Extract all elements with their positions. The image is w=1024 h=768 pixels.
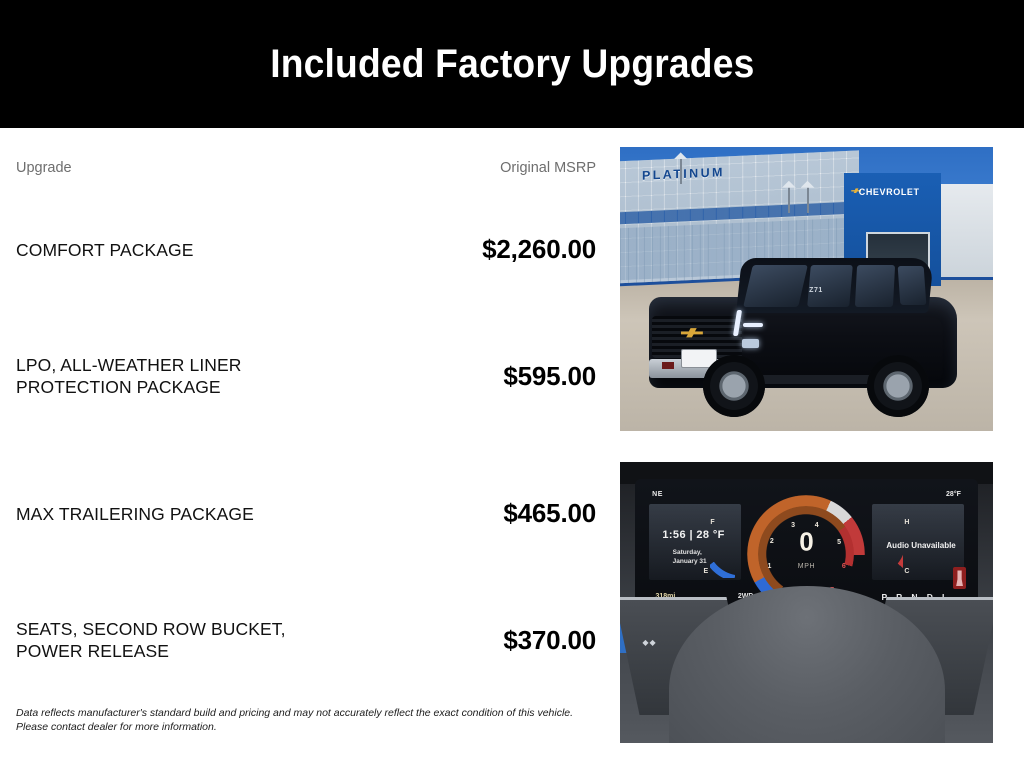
upgrades-table: Upgrade Original MSRP COMFORT PACKAGE $2… [0, 128, 612, 768]
headlight-upper [743, 323, 763, 327]
window-windshield [743, 265, 807, 307]
outside-temp-readout: 28°F [946, 491, 961, 498]
column-header-msrp: Original MSRP [500, 160, 596, 176]
tach-tick: 4 [815, 522, 819, 529]
brand-sign-text: CHEVROLET [859, 187, 920, 197]
upgrade-label: LPO, ALL-WEATHER LINER PROTECTION PACKAG… [16, 354, 242, 398]
front-wheel [703, 355, 765, 417]
upgrade-price: $595.00 [503, 361, 596, 392]
exterior-scene: PLATINUM CHEVROLET [620, 147, 993, 431]
window-quarter [898, 266, 926, 305]
table-row: SEATS, SECOND ROW BUCKET, POWER RELEASE … [16, 618, 596, 662]
clock-value: 1:56 [662, 529, 686, 541]
upgrade-label: MAX TRAILERING PACKAGE [16, 503, 254, 525]
window-rear-door [855, 265, 896, 307]
page-header: Included Factory Upgrades [0, 0, 1024, 128]
fuel-full-label: F [710, 519, 714, 526]
trim-badge: Z71 [809, 287, 823, 294]
date-readout: Saturday, January 31 [673, 548, 707, 566]
vehicle-interior-photo[interactable]: NE 28°F 1:56 | 28 °F Saturday, January 3… [620, 462, 993, 743]
upgrade-price: $2,260.00 [482, 234, 596, 265]
vehicle-exterior-photo[interactable]: PLATINUM CHEVROLET [620, 147, 993, 431]
lot-lamp-icon [788, 187, 790, 213]
speed-value: 0 [799, 527, 813, 558]
table-row: MAX TRAILERING PACKAGE $465.00 [16, 498, 596, 529]
speed-unit: MPH [798, 563, 815, 570]
disclaimer-text: Data reflects manufacturer's standard bu… [16, 706, 596, 734]
column-header-upgrade: Upgrade [16, 160, 72, 176]
page-title: Included Factory Upgrades [270, 42, 754, 87]
lot-lamp-icon [680, 158, 682, 184]
suv-vehicle: Z71 [642, 255, 963, 417]
table-header-row: Upgrade Original MSRP [16, 160, 596, 176]
window-front-door [807, 265, 852, 307]
seatbelt-warning-icon [953, 567, 966, 589]
upgrade-label: SEATS, SECOND ROW BUCKET, POWER RELEASE [16, 618, 286, 662]
upgrade-label: COMFORT PACKAGE [16, 239, 194, 261]
table-row: COMFORT PACKAGE $2,260.00 [16, 234, 596, 265]
fuel-gauge-arc [710, 506, 772, 578]
upgrade-price: $465.00 [503, 498, 596, 529]
rear-wheel [867, 355, 929, 417]
upgrade-price: $370.00 [503, 625, 596, 656]
tow-hook-icon [662, 362, 674, 369]
steering-wheel-control-icon: ◆◆ [642, 638, 656, 647]
compass-heading: NE [652, 491, 663, 498]
temp-cold-label: C [904, 568, 909, 575]
table-row: LPO, ALL-WEATHER LINER PROTECTION PACKAG… [16, 354, 596, 398]
temp-hot-label: H [904, 519, 909, 526]
fuel-empty-label: E [704, 568, 709, 575]
headlight-lower [742, 339, 759, 348]
interior-scene: NE 28°F 1:56 | 28 °F Saturday, January 3… [620, 462, 993, 743]
vehicle-upgrades-page: Included Factory Upgrades Upgrade Origin… [0, 0, 1024, 768]
coolant-temp-arc [841, 506, 903, 578]
lot-lamp-icon [807, 187, 809, 213]
tach-tick: 3 [791, 522, 795, 529]
